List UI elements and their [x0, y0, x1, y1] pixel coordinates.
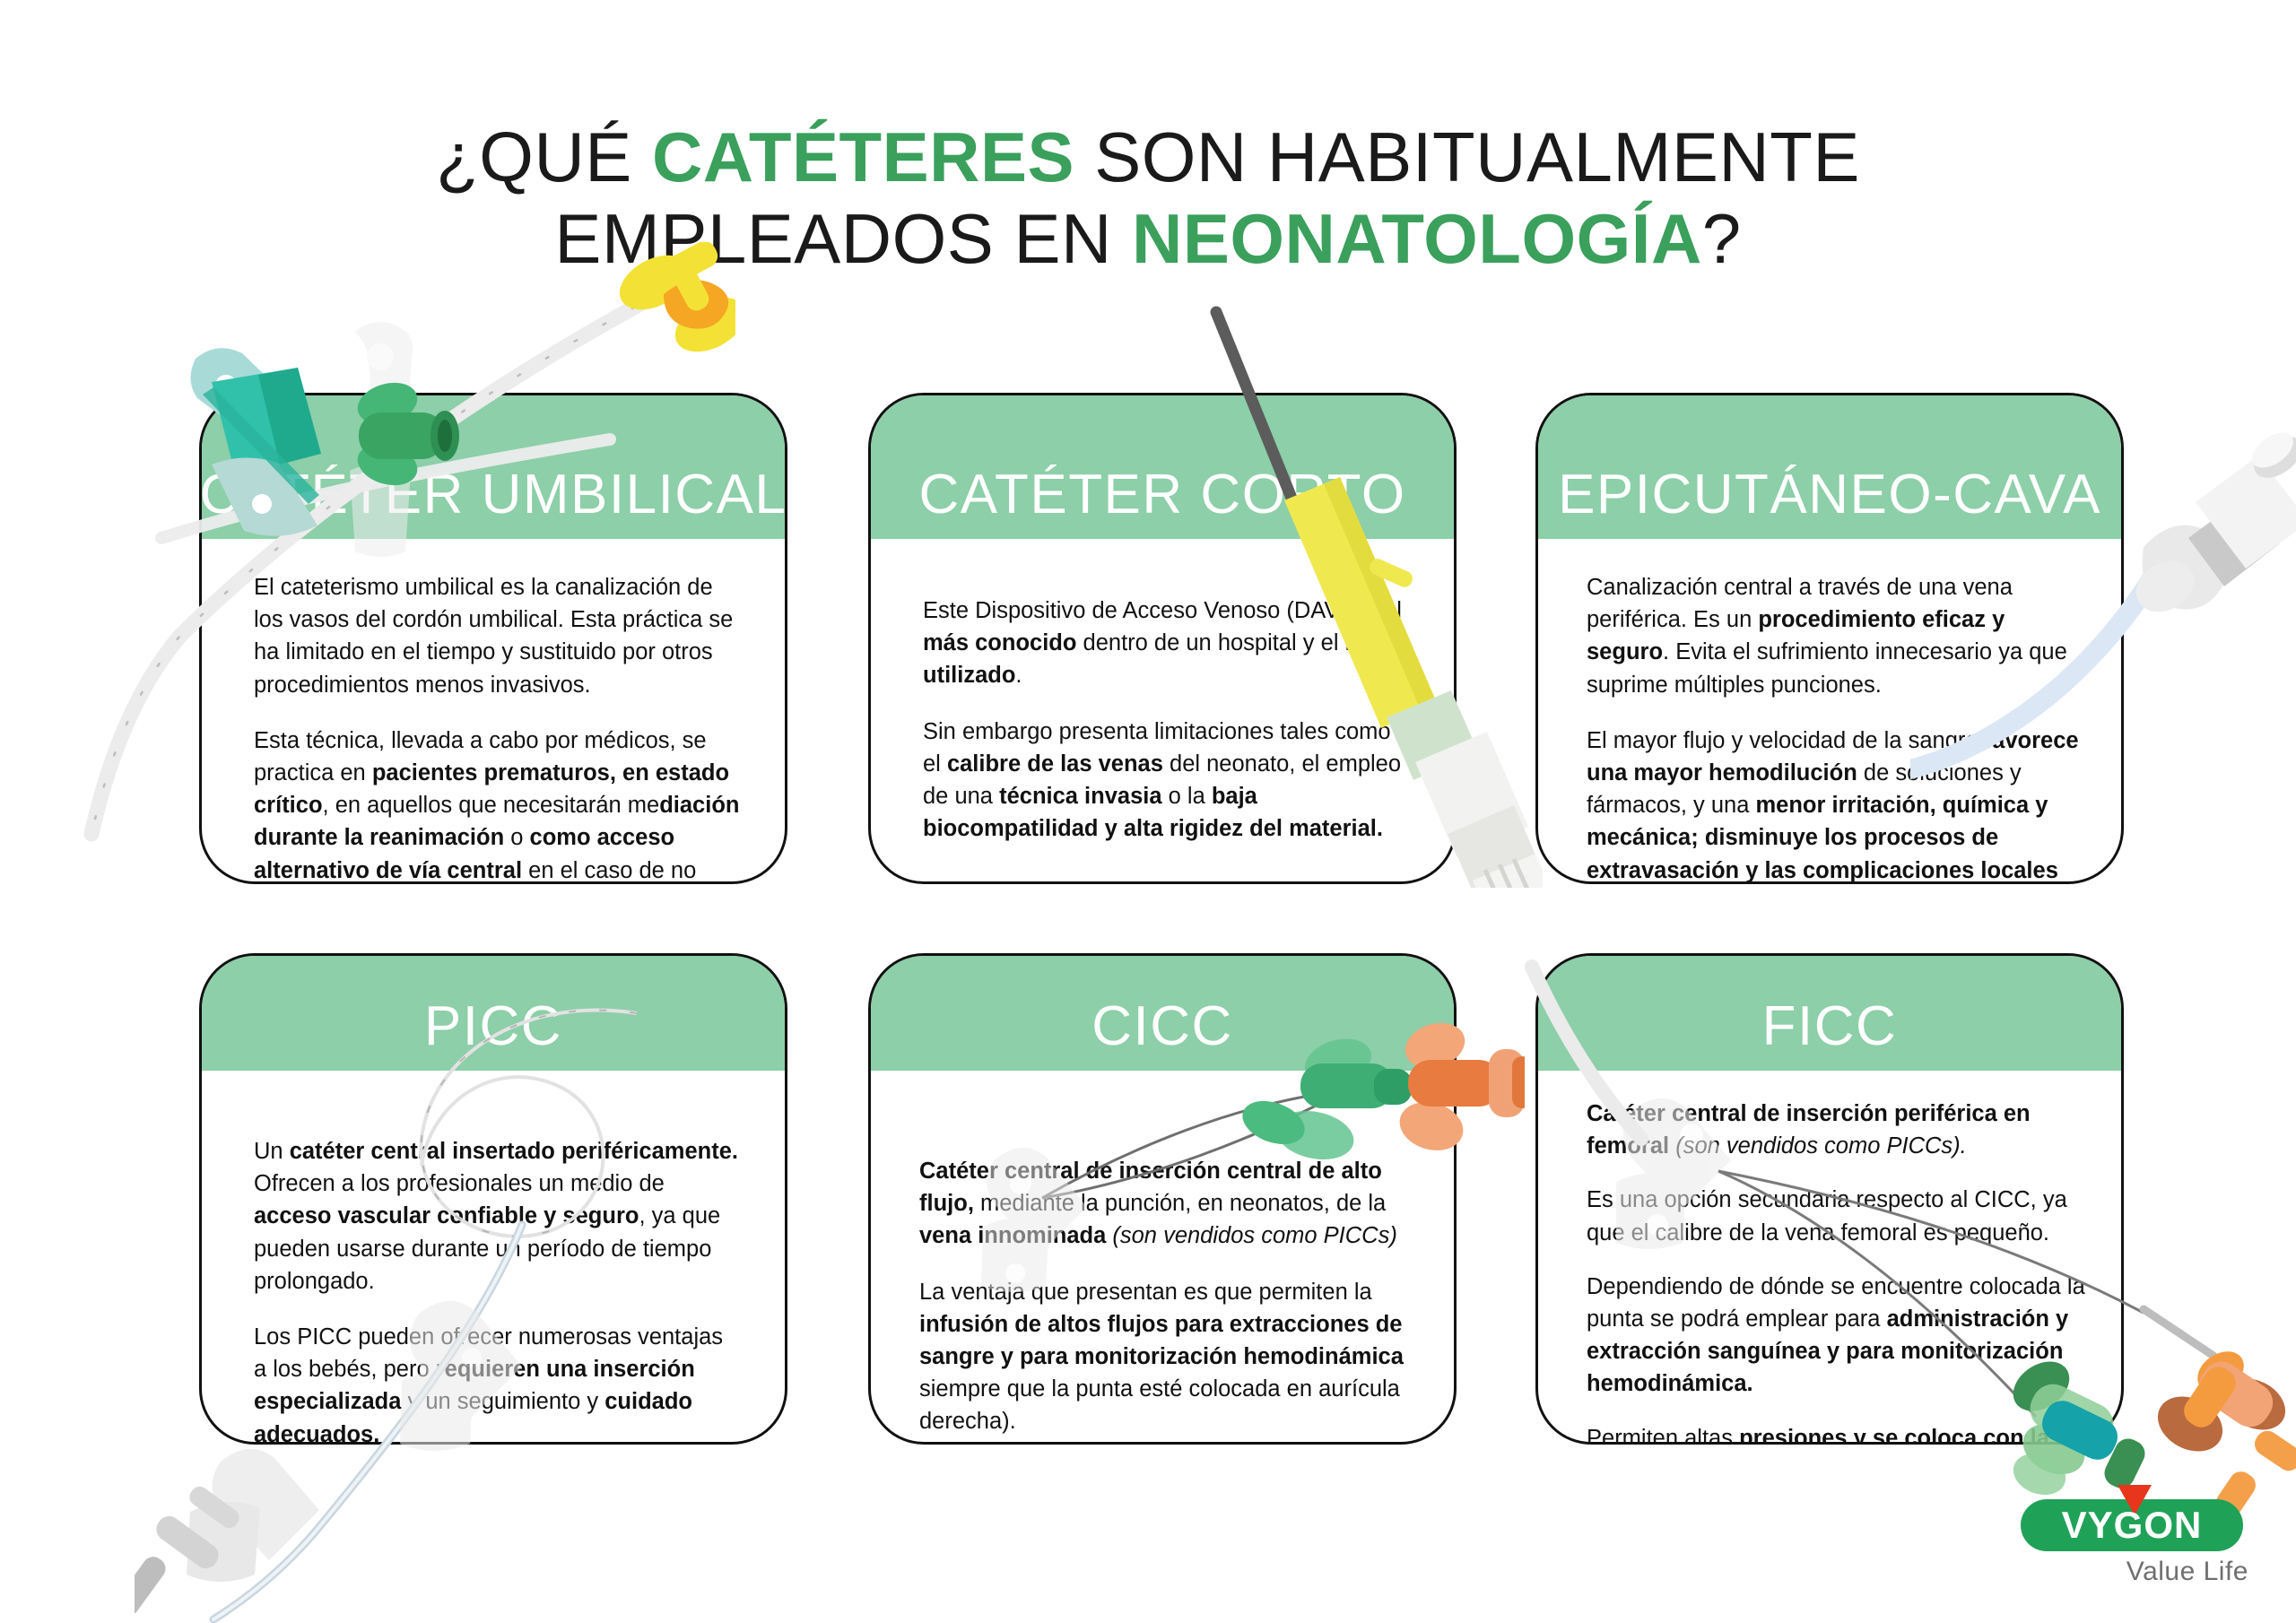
- card-body-corto: Este Dispositivo de Acceso Venoso (DAV) …: [871, 595, 1454, 845]
- card-title-ficc: FICC: [1762, 999, 1898, 1071]
- vygon-logo: VYGON Value Life: [2013, 1478, 2256, 1594]
- card-title-umbilical: CATÉTER UMBILICAL: [200, 467, 787, 539]
- text-run: , en aquellos que necesitarán me: [323, 793, 660, 818]
- text-run: La ventaja que presentan es que permiten…: [919, 1280, 1372, 1305]
- card-title-corto: CATÉTER CORTO: [918, 467, 1405, 539]
- card-body-ficc: Catéter central de inserción periférica …: [1538, 1098, 2121, 1445]
- paragraph: La ventaja que presentan es que permiten…: [919, 1276, 1418, 1438]
- card-body-umbilical: El cateterismo umbilical es la canalizac…: [202, 571, 785, 884]
- paragraph: Sin embargo presenta limitaciones tales …: [923, 716, 1411, 846]
- text-run: El cateterismo umbilical es la canalizac…: [254, 575, 733, 698]
- card-body-cicc: Catéter central de inserción central de …: [871, 1155, 1454, 1438]
- paragraph: Es una opción secundaria respecto al CIC…: [1587, 1184, 2085, 1248]
- title-line-2: EMPLEADOS EN NEONATOLOGÍA?: [0, 198, 2296, 279]
- card-cicc[interactable]: CICC Catéter central de inserción centra…: [868, 953, 1457, 1445]
- card-epicutaneo-cava[interactable]: EPICUTÁNEO-CAVA Canalización central a t…: [1535, 393, 2124, 884]
- paragraph: Catéter central de inserción periférica …: [1587, 1098, 2085, 1162]
- text-run: Permiten altas: [1587, 1426, 1739, 1445]
- text-emphasis: catéter central insertado periféricament…: [290, 1139, 738, 1164]
- text-run: Un: [254, 1139, 290, 1164]
- paragraph: El cateterismo umbilical es la canalizac…: [254, 571, 742, 701]
- card-body-epicutaneo: Canalización central a través de una ven…: [1538, 571, 2121, 884]
- text-run: Ofrecen a los profesionales un medio de: [254, 1171, 665, 1196]
- logo-wordmark: VYGON: [2021, 1499, 2243, 1551]
- paragraph: Un catéter central insertado periféricam…: [254, 1135, 742, 1298]
- text-run: mediante la punción, en neonatos, de la: [974, 1191, 1386, 1216]
- card-title-picc: PICC: [424, 999, 562, 1071]
- paragraph: Esta técnica, llevada a cabo por médicos…: [254, 725, 742, 884]
- picc-hub: [135, 1449, 319, 1620]
- card-header-ficc: FICC: [1538, 956, 2121, 1071]
- title-text-post: SON HABITUALMENTE: [1074, 117, 1860, 196]
- paragraph: Canalización central a través de una ven…: [1587, 571, 2085, 701]
- title-line2-post: ?: [1702, 199, 1742, 278]
- paragraph: Catéter central de inserción central de …: [919, 1155, 1418, 1253]
- title-line-1: ¿QUÉ CATÉTERES SON HABITUALMENTE: [436, 117, 1860, 196]
- card-cateter-umbilical[interactable]: CATÉTER UMBILICAL El cateterismo umbilic…: [199, 393, 787, 884]
- paragraph: Este Dispositivo de Acceso Venoso (DAV) …: [923, 595, 1411, 692]
- text-run: o: [504, 825, 529, 850]
- paragraph: El mayor flujo y velocidad de la sangre …: [1587, 725, 2085, 884]
- text-run: Este Dispositivo de Acceso Venoso (DAV) …: [923, 598, 1402, 623]
- title-text-pre: ¿QUÉ: [436, 117, 652, 196]
- text-emphasis: técnica invasia: [999, 784, 1161, 809]
- card-title-epicutaneo: EPICUTÁNEO-CAVA: [1558, 467, 2101, 539]
- paragraph: Los PICC pueden ofrecer numerosas ventaj…: [254, 1321, 742, 1445]
- card-header-cicc: CICC: [871, 956, 1454, 1071]
- infographic-page: ¿QUÉ CATÉTERES SON HABITUALMENTEEMPLEADO…: [0, 0, 2296, 1623]
- text-emphasis: calibre de las venas: [947, 751, 1163, 777]
- page-title: ¿QUÉ CATÉTERES SON HABITUALMENTEEMPLEADO…: [0, 117, 2296, 279]
- text-run: siempre que la punta esté colocada en au…: [919, 1376, 1400, 1434]
- card-header-umbilical: CATÉTER UMBILICAL: [202, 395, 785, 539]
- text-emphasis: infusión de altos flujos para extraccion…: [919, 1312, 1404, 1369]
- card-header-epicutaneo: EPICUTÁNEO-CAVA: [1538, 395, 2121, 539]
- logo-tagline: Value Life: [2013, 1557, 2248, 1587]
- text-run: El mayor flujo y velocidad de la sangre: [1587, 728, 1985, 753]
- text-run: dentro de un hospital y el: [1076, 630, 1344, 655]
- paragraph: Permiten altas presiones y se coloca con…: [1587, 1422, 2085, 1445]
- paragraph: Dependiendo de dónde se encuentre coloca…: [1587, 1271, 2085, 1401]
- card-header-picc: PICC: [202, 956, 785, 1071]
- title-line2-pre: EMPLEADOS EN: [554, 199, 1132, 278]
- text-run: Es una opción secundaria respecto al CIC…: [1587, 1187, 2067, 1245]
- title-accent-cateteres: CATÉTERES: [652, 117, 1074, 196]
- text-run: o la: [1162, 784, 1212, 809]
- card-picc[interactable]: PICC Un catéter central insertado perifé…: [199, 953, 787, 1445]
- text-emphasis: vena innominada: [919, 1223, 1106, 1248]
- card-cateter-corto[interactable]: CATÉTER CORTO Este Dispositivo de Acceso…: [868, 393, 1457, 884]
- text-run: .: [1015, 663, 1022, 688]
- text-emphasis: acceso vascular confiable y seguro: [254, 1203, 639, 1228]
- card-title-cicc: CICC: [1091, 999, 1233, 1071]
- card-header-corto: CATÉTER CORTO: [871, 395, 1454, 539]
- text-run: y un seguimiento y: [401, 1389, 604, 1414]
- card-ficc[interactable]: FICC Catéter central de inserción perifé…: [1535, 953, 2124, 1445]
- card-body-picc: Un catéter central insertado periféricam…: [202, 1135, 785, 1445]
- text-run: (son vendidos como PICCs).: [1669, 1133, 1967, 1159]
- text-run: (son vendidos como PICCs): [1106, 1223, 1397, 1248]
- title-accent-neonatologia: NEONATOLOGÍA: [1132, 199, 1702, 278]
- text-emphasis: más conocido: [923, 630, 1076, 655]
